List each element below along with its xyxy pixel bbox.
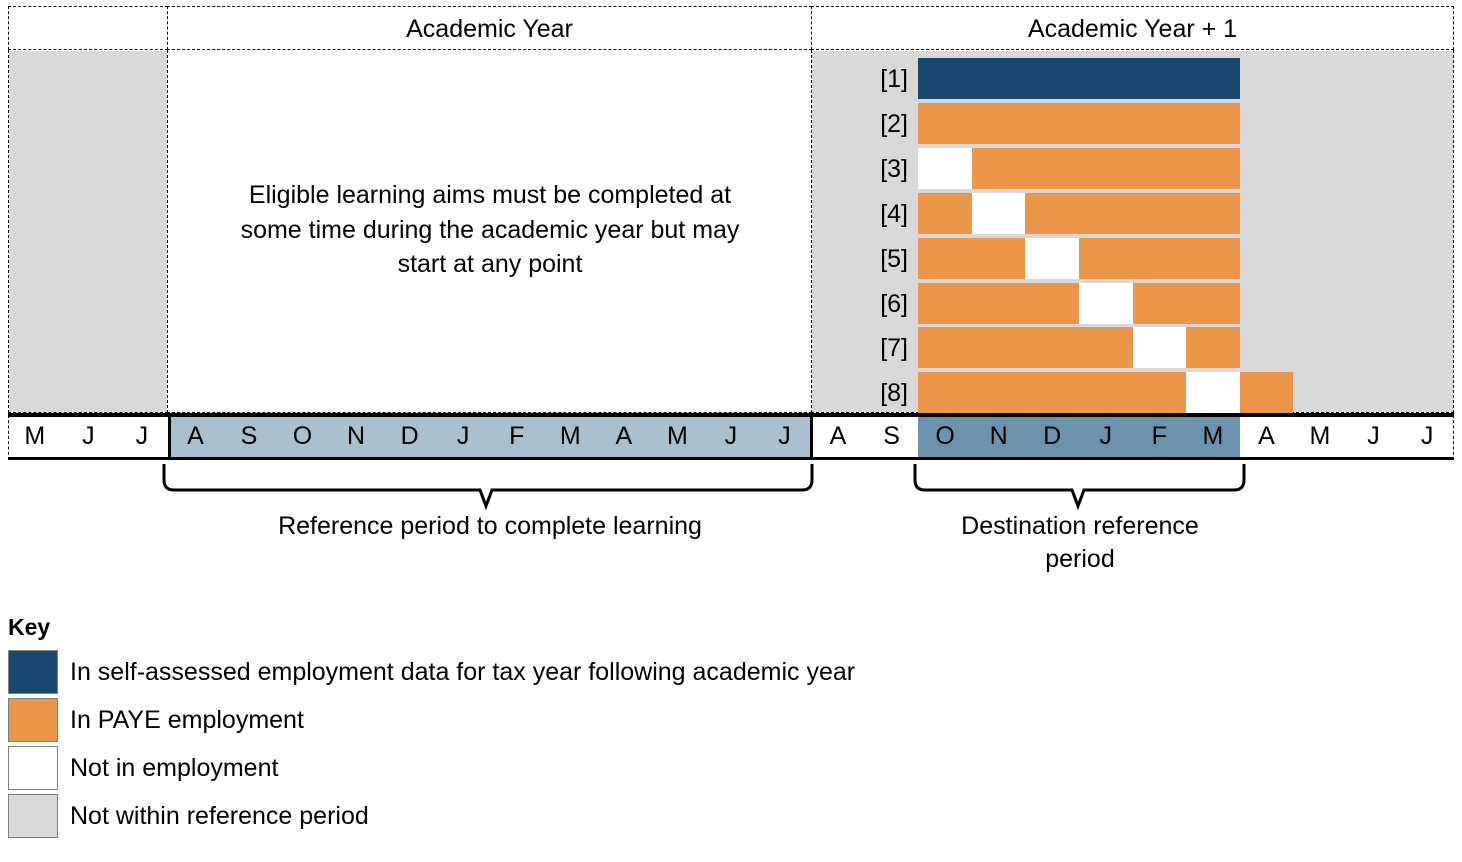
month-label-22: M [1186,424,1240,449]
month-label-11: A [597,424,651,449]
month-label-17: O [918,424,972,449]
bar-segment-paye [918,193,972,234]
month-label-7: D [383,424,437,449]
bar-segment-none [1025,238,1079,279]
bar-segment-none [1079,283,1133,324]
bar-segment-paye [918,103,1239,144]
bar-segment-none [972,193,1026,234]
month-label-6: N [329,424,383,449]
month-label-1: J [62,424,116,449]
key-swatch [8,698,58,742]
month-label-24: M [1293,424,1347,449]
bar-row [0,193,1462,234]
diagram-canvas: Academic Year Academic Year + 1 Eligible… [0,0,1462,862]
bar-segment-paye [1079,238,1240,279]
bar-segment-paye [1025,193,1239,234]
bar-segment-none [1133,327,1187,368]
learning-band-edge-1 [810,417,813,457]
key-item: In self-assessed employment data for tax… [8,650,1008,694]
destination-period-bracket [912,462,1247,510]
destination-period-caption: Destination reference period [905,510,1255,575]
month-label-0: M [8,424,62,449]
bar-segment-paye [972,148,1240,189]
bar-segment-sa [918,58,1239,99]
month-label-8: J [436,424,490,449]
bar-segment-paye [918,372,1186,413]
bar-segment-paye [918,283,1079,324]
destination-period-caption-line-2: period [905,543,1255,576]
bar-segment-paye [918,327,1132,368]
month-label-9: F [490,424,544,449]
bar-segment-paye [1186,327,1240,368]
learning-period-caption: Reference period to complete learning [160,510,820,543]
month-label-5: O [276,424,330,449]
key-swatch [8,746,58,790]
bar-row [0,327,1462,368]
key-title: Key [8,616,50,639]
key-label: In self-assessed employment data for tax… [70,657,855,687]
month-label-18: N [972,424,1026,449]
month-label-12: M [651,424,705,449]
key-item: In PAYE employment [8,698,1008,742]
key-label: Not within reference period [70,801,369,831]
month-label-16: S [865,424,919,449]
month-label-10: M [544,424,598,449]
key-swatch [8,650,58,694]
month-label-4: S [222,424,276,449]
bar-row [0,238,1462,279]
bar-segment-paye [1240,372,1294,413]
month-label-13: J [704,424,758,449]
month-label-25: J [1347,424,1401,449]
key-swatch [8,794,58,838]
bar-segment-paye [918,238,1025,279]
bar-row [0,58,1462,99]
destination-period-caption-line-1: Destination reference [905,510,1255,543]
bar-segment-none [918,148,972,189]
bar-segment-paye [1133,283,1240,324]
bar-row [0,103,1462,144]
month-label-3: A [169,424,223,449]
bar-row [0,148,1462,189]
header-cell-left-blank [8,6,168,50]
academic-year-title: Academic Year [167,17,812,42]
month-label-20: J [1079,424,1133,449]
bar-segment-none [1186,372,1240,413]
key-label: In PAYE employment [70,705,304,735]
learning-band-edge-0 [168,417,171,457]
month-label-23: A [1240,424,1294,449]
month-label-21: F [1133,424,1187,449]
key-item: Not in employment [8,746,1008,790]
month-label-19: D [1025,424,1079,449]
academic-year-plus-one-title: Academic Year + 1 [811,17,1454,42]
month-label-14: J [758,424,812,449]
learning-period-bracket [160,462,820,510]
month-label-2: J [115,424,169,449]
key-label: Not in employment [70,753,278,783]
bar-row [0,283,1462,324]
month-label-15: A [811,424,865,449]
month-label-26: J [1400,424,1454,449]
bar-row [0,372,1462,413]
key-item: Not within reference period [8,794,1008,838]
